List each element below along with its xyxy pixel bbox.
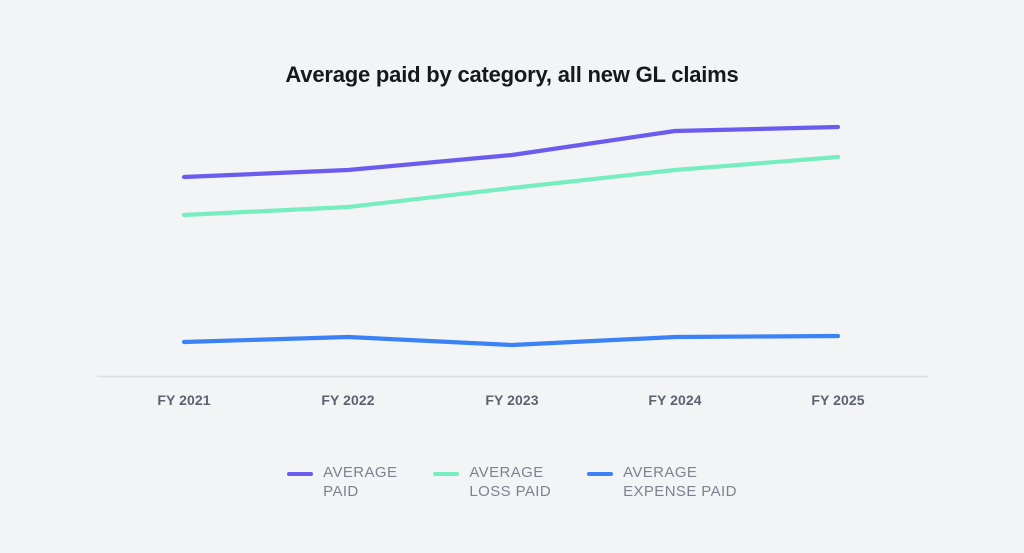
legend-item[interactable]: AVERAGE LOSS PAID <box>433 455 551 501</box>
x-tick-label: FY 2025 <box>811 392 864 408</box>
legend-color-swatch <box>587 472 613 476</box>
legend-item[interactable]: AVERAGE EXPENSE PAID <box>587 455 737 501</box>
plot-area: FY 2021FY 2022FY 2023FY 2024FY 2025 <box>0 0 1024 420</box>
line-chart-svg <box>0 0 1024 420</box>
chart-legend: AVERAGE PAIDAVERAGE LOSS PAIDAVERAGE EXP… <box>0 455 1024 501</box>
x-axis-tick-labels: FY 2021FY 2022FY 2023FY 2024FY 2025 <box>97 392 928 414</box>
legend-item[interactable]: AVERAGE PAID <box>287 455 397 501</box>
series-line-average-expense-paid <box>184 336 838 345</box>
legend-color-swatch <box>433 472 459 476</box>
series-line-average-paid <box>184 127 838 177</box>
x-tick-label: FY 2024 <box>648 392 701 408</box>
x-tick-label: FY 2021 <box>157 392 210 408</box>
chart-card: Average paid by category, all new GL cla… <box>0 0 1024 553</box>
legend-label: AVERAGE LOSS PAID <box>469 455 551 501</box>
x-tick-label: FY 2023 <box>485 392 538 408</box>
legend-label: AVERAGE EXPENSE PAID <box>623 455 737 501</box>
series-line-average-loss-paid <box>184 157 838 215</box>
legend-color-swatch <box>287 472 313 476</box>
x-tick-label: FY 2022 <box>321 392 374 408</box>
legend-label: AVERAGE PAID <box>323 455 397 501</box>
